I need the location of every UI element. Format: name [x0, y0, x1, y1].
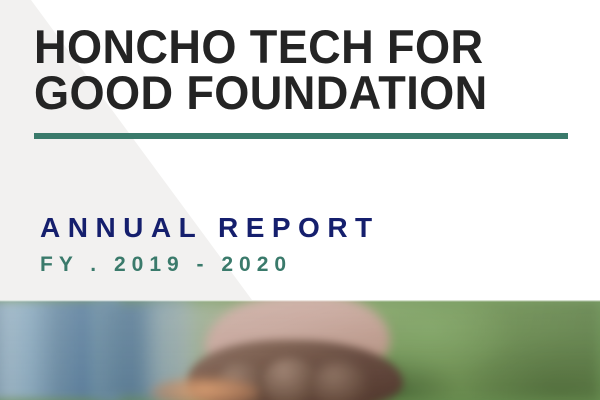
- title-divider-rule: [34, 133, 568, 139]
- report-subtitle-block: ANNUAL REPORT FY . 2019 - 2020: [40, 212, 380, 276]
- photo-top-seam: [0, 300, 600, 302]
- page-title-line-2: GOOD FOUNDATION: [34, 70, 552, 116]
- photo-soft-focus-overlay: [0, 300, 600, 400]
- cover-photograph: [0, 300, 600, 400]
- annual-report-cover-page: HONCHO TECH FOR GOOD FOUNDATION ANNUAL R…: [0, 0, 600, 400]
- fiscal-year-label: FY . 2019 - 2020: [40, 254, 380, 276]
- report-label: ANNUAL REPORT: [40, 212, 380, 244]
- cover-header: HONCHO TECH FOR GOOD FOUNDATION: [34, 24, 574, 116]
- page-title-line-1: HONCHO TECH FOR: [34, 24, 552, 70]
